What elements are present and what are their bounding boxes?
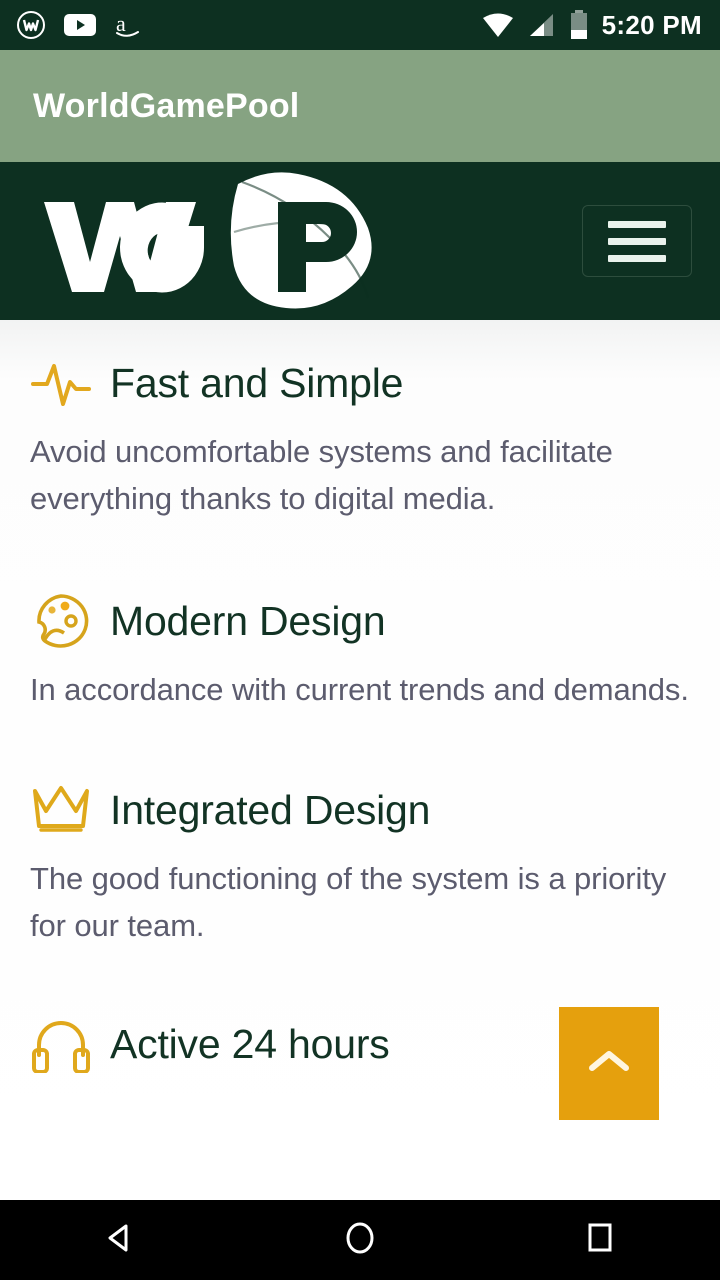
feature-item: Integrated Design The good functioning o… xyxy=(0,781,720,949)
phone-screen: a xyxy=(0,0,720,1280)
feature-description: In accordance with current trends and de… xyxy=(30,666,690,713)
hamburger-menu-button[interactable] xyxy=(582,205,692,277)
feature-title: Fast and Simple xyxy=(110,360,403,407)
home-button[interactable] xyxy=(300,1200,420,1280)
crown-icon xyxy=(30,781,92,839)
wgp-logo[interactable] xyxy=(30,166,380,316)
battery-icon xyxy=(569,10,589,40)
cellular-signal-icon xyxy=(528,11,556,39)
feature-description: The good functioning of the system is a … xyxy=(30,855,690,949)
feature-title: Active 24 hours xyxy=(110,1021,390,1068)
home-circle-icon xyxy=(340,1218,380,1263)
feature-header: Integrated Design xyxy=(30,781,690,839)
app-title-bar: WorldGamePool xyxy=(0,50,720,162)
feature-header: Modern Design xyxy=(30,592,690,650)
recents-button[interactable] xyxy=(540,1200,660,1280)
feature-title: Integrated Design xyxy=(110,787,430,834)
status-bar-time: 5:20 PM xyxy=(602,10,702,41)
site-header xyxy=(0,162,720,320)
wifi-icon xyxy=(481,11,515,39)
feature-item: Fast and Simple Avoid uncomfortable syst… xyxy=(0,354,720,522)
menu-bar-3 xyxy=(608,255,666,262)
feature-title: Modern Design xyxy=(110,598,385,645)
headset-icon xyxy=(30,1016,92,1074)
features-list: Fast and Simple Avoid uncomfortable syst… xyxy=(0,320,720,1200)
recents-square-icon xyxy=(580,1218,620,1263)
feature-item: Modern Design In accordance with current… xyxy=(0,592,720,713)
w-circle-icon xyxy=(16,10,46,40)
app-title: WorldGamePool xyxy=(33,87,299,126)
feature-description: Avoid uncomfortable systems and facilita… xyxy=(30,428,690,522)
palette-icon xyxy=(30,592,92,650)
menu-bar-2 xyxy=(608,238,666,245)
scroll-to-top-button[interactable] xyxy=(559,1007,659,1120)
chevron-up-icon xyxy=(586,1046,632,1081)
feature-header: Fast and Simple xyxy=(30,354,690,412)
notification-icons: a xyxy=(16,10,142,40)
menu-bar-1 xyxy=(608,221,666,228)
pulse-icon xyxy=(30,354,92,412)
youtube-icon xyxy=(64,13,96,37)
amazon-icon: a xyxy=(114,11,142,39)
back-button[interactable] xyxy=(60,1200,180,1280)
back-triangle-icon xyxy=(100,1218,140,1263)
android-nav-bar xyxy=(0,1200,720,1280)
status-bar: a xyxy=(0,0,720,50)
status-indicators: 5:20 PM xyxy=(481,10,702,41)
